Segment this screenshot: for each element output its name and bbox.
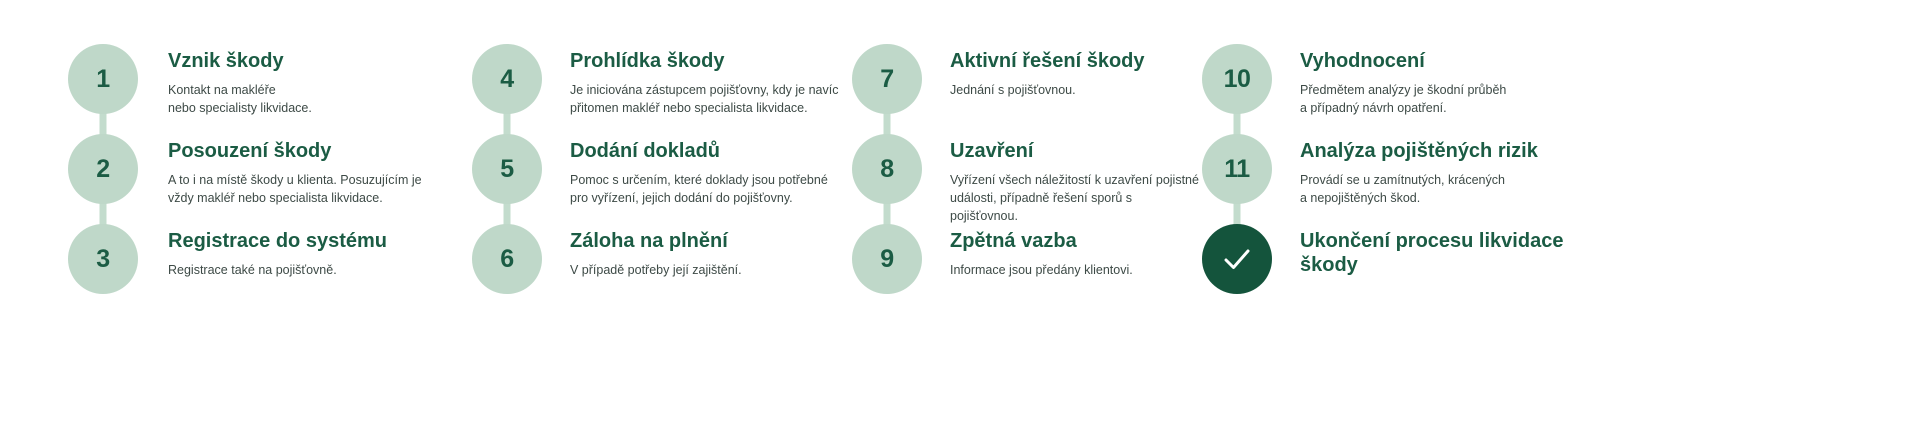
process-step[interactable]: 7 Aktivní řešení škody Jednání s pojišťo…	[852, 44, 1202, 134]
step-text-block: Záloha na plnění V případě potřeby její …	[542, 224, 742, 279]
diagram-column-1: 1 Vznik škody Kontakt na makléře nebo sp…	[0, 0, 450, 434]
step-text-block: Vznik škody Kontakt na makléře nebo spec…	[138, 44, 312, 117]
step-number-bubble: 9	[852, 224, 922, 294]
step-text-block: Ukončení procesu likvidace škody	[1272, 224, 1602, 284]
step-number-bubble: 7	[852, 44, 922, 114]
step-title: Prohlídka škody	[570, 50, 838, 74]
step-number: 5	[500, 155, 513, 184]
process-step[interactable]: 9 Zpětná vazba Informace jsou předány kl…	[852, 224, 1202, 314]
step-title: Zpětná vazba	[950, 230, 1133, 254]
step-number: 8	[880, 155, 893, 184]
process-step-final[interactable]: Ukončení procesu likvidace škody	[1202, 224, 1602, 314]
process-step[interactable]: 2 Posouzení škody A to i na místě škody …	[68, 134, 450, 224]
step-description: Jednání s pojišťovnou.	[950, 81, 1145, 99]
step-description: Předmětem analýzy je škodní průběh a pří…	[1300, 81, 1506, 117]
step-description: Informace jsou předány klientovi.	[950, 261, 1133, 279]
step-number: 7	[880, 65, 893, 94]
step-number-bubble: 8	[852, 134, 922, 204]
step-number: 3	[96, 245, 109, 274]
step-text-block: Analýza pojištěných rizik Provádí se u z…	[1272, 134, 1538, 207]
step-title: Dodání dokladů	[570, 140, 828, 164]
step-description: A to i na místě škody u klienta. Posuzuj…	[168, 171, 422, 207]
step-description: Je iniciována zástupcem pojišťovny, kdy …	[570, 81, 838, 117]
step-title: Ukončení procesu likvidace škody	[1300, 230, 1602, 277]
diagram-column-4: 10 Vyhodnocení Předmětem analýzy je škod…	[1202, 0, 1602, 434]
process-step[interactable]: 10 Vyhodnocení Předmětem analýzy je škod…	[1202, 44, 1602, 134]
step-number: 6	[500, 245, 513, 274]
step-text-block: Prohlídka škody Je iniciována zástupcem …	[542, 44, 838, 117]
step-description: Vyřízení všech náležitostí k uzavření po…	[950, 171, 1202, 225]
step-text-block: Dodání dokladů Pomoc s určením, které do…	[542, 134, 828, 207]
process-step[interactable]: 8 Uzavření Vyřízení všech náležitostí k …	[852, 134, 1202, 224]
diagram-column-3: 7 Aktivní řešení škody Jednání s pojišťo…	[852, 0, 1202, 434]
process-diagram: 1 Vznik škody Kontakt na makléře nebo sp…	[0, 0, 1920, 434]
process-step[interactable]: 5 Dodání dokladů Pomoc s určením, které …	[472, 134, 852, 224]
step-description: Provádí se u zamítnutých, krácených a ne…	[1300, 171, 1538, 207]
step-number: 10	[1224, 65, 1251, 94]
step-number: 9	[880, 245, 893, 274]
step-number-bubble: 1	[68, 44, 138, 114]
step-number: 4	[500, 65, 513, 94]
process-step[interactable]: 1 Vznik škody Kontakt na makléře nebo sp…	[68, 44, 450, 134]
step-description: Kontakt na makléře nebo specialisty likv…	[168, 81, 312, 117]
process-step[interactable]: 3 Registrace do systému Registrace také …	[68, 224, 450, 314]
step-number-bubble: 5	[472, 134, 542, 204]
step-title: Registrace do systému	[168, 230, 387, 254]
step-description: Pomoc s určením, které doklady jsou potř…	[570, 171, 828, 207]
process-step[interactable]: 6 Záloha na plnění V případě potřeby jej…	[472, 224, 852, 314]
step-text-block: Registrace do systému Registrace také na…	[138, 224, 387, 279]
step-title: Aktivní řešení škody	[950, 50, 1145, 74]
step-number-bubble: 2	[68, 134, 138, 204]
step-number: 1	[96, 65, 109, 94]
step-title: Uzavření	[950, 140, 1202, 164]
diagram-columns: 1 Vznik škody Kontakt na makléře nebo sp…	[0, 0, 1920, 434]
step-description: Registrace také na pojišťovně.	[168, 261, 387, 279]
step-title: Vyhodnocení	[1300, 50, 1506, 74]
step-completion-bubble	[1202, 224, 1272, 294]
step-text-block: Vyhodnocení Předmětem analýzy je škodní …	[1272, 44, 1506, 117]
check-icon	[1220, 242, 1254, 276]
step-description: V případě potřeby její zajištění.	[570, 261, 742, 279]
step-text-block: Posouzení škody A to i na místě škody u …	[138, 134, 422, 207]
step-number-bubble: 11	[1202, 134, 1272, 204]
step-number-bubble: 6	[472, 224, 542, 294]
process-step[interactable]: 4 Prohlídka škody Je iniciována zástupce…	[472, 44, 852, 134]
step-text-block: Aktivní řešení škody Jednání s pojišťovn…	[922, 44, 1145, 99]
step-number-bubble: 3	[68, 224, 138, 294]
diagram-column-2: 4 Prohlídka škody Je iniciována zástupce…	[450, 0, 852, 434]
step-title: Analýza pojištěných rizik	[1300, 140, 1538, 164]
step-text-block: Uzavření Vyřízení všech náležitostí k uz…	[922, 134, 1202, 225]
step-number-bubble: 10	[1202, 44, 1272, 114]
process-step[interactable]: 11 Analýza pojištěných rizik Provádí se …	[1202, 134, 1602, 224]
step-number: 11	[1224, 155, 1249, 184]
step-title: Záloha na plnění	[570, 230, 742, 254]
step-title: Vznik škody	[168, 50, 312, 74]
step-number-bubble: 4	[472, 44, 542, 114]
step-number: 2	[96, 155, 109, 184]
step-title: Posouzení škody	[168, 140, 422, 164]
step-text-block: Zpětná vazba Informace jsou předány klie…	[922, 224, 1133, 279]
